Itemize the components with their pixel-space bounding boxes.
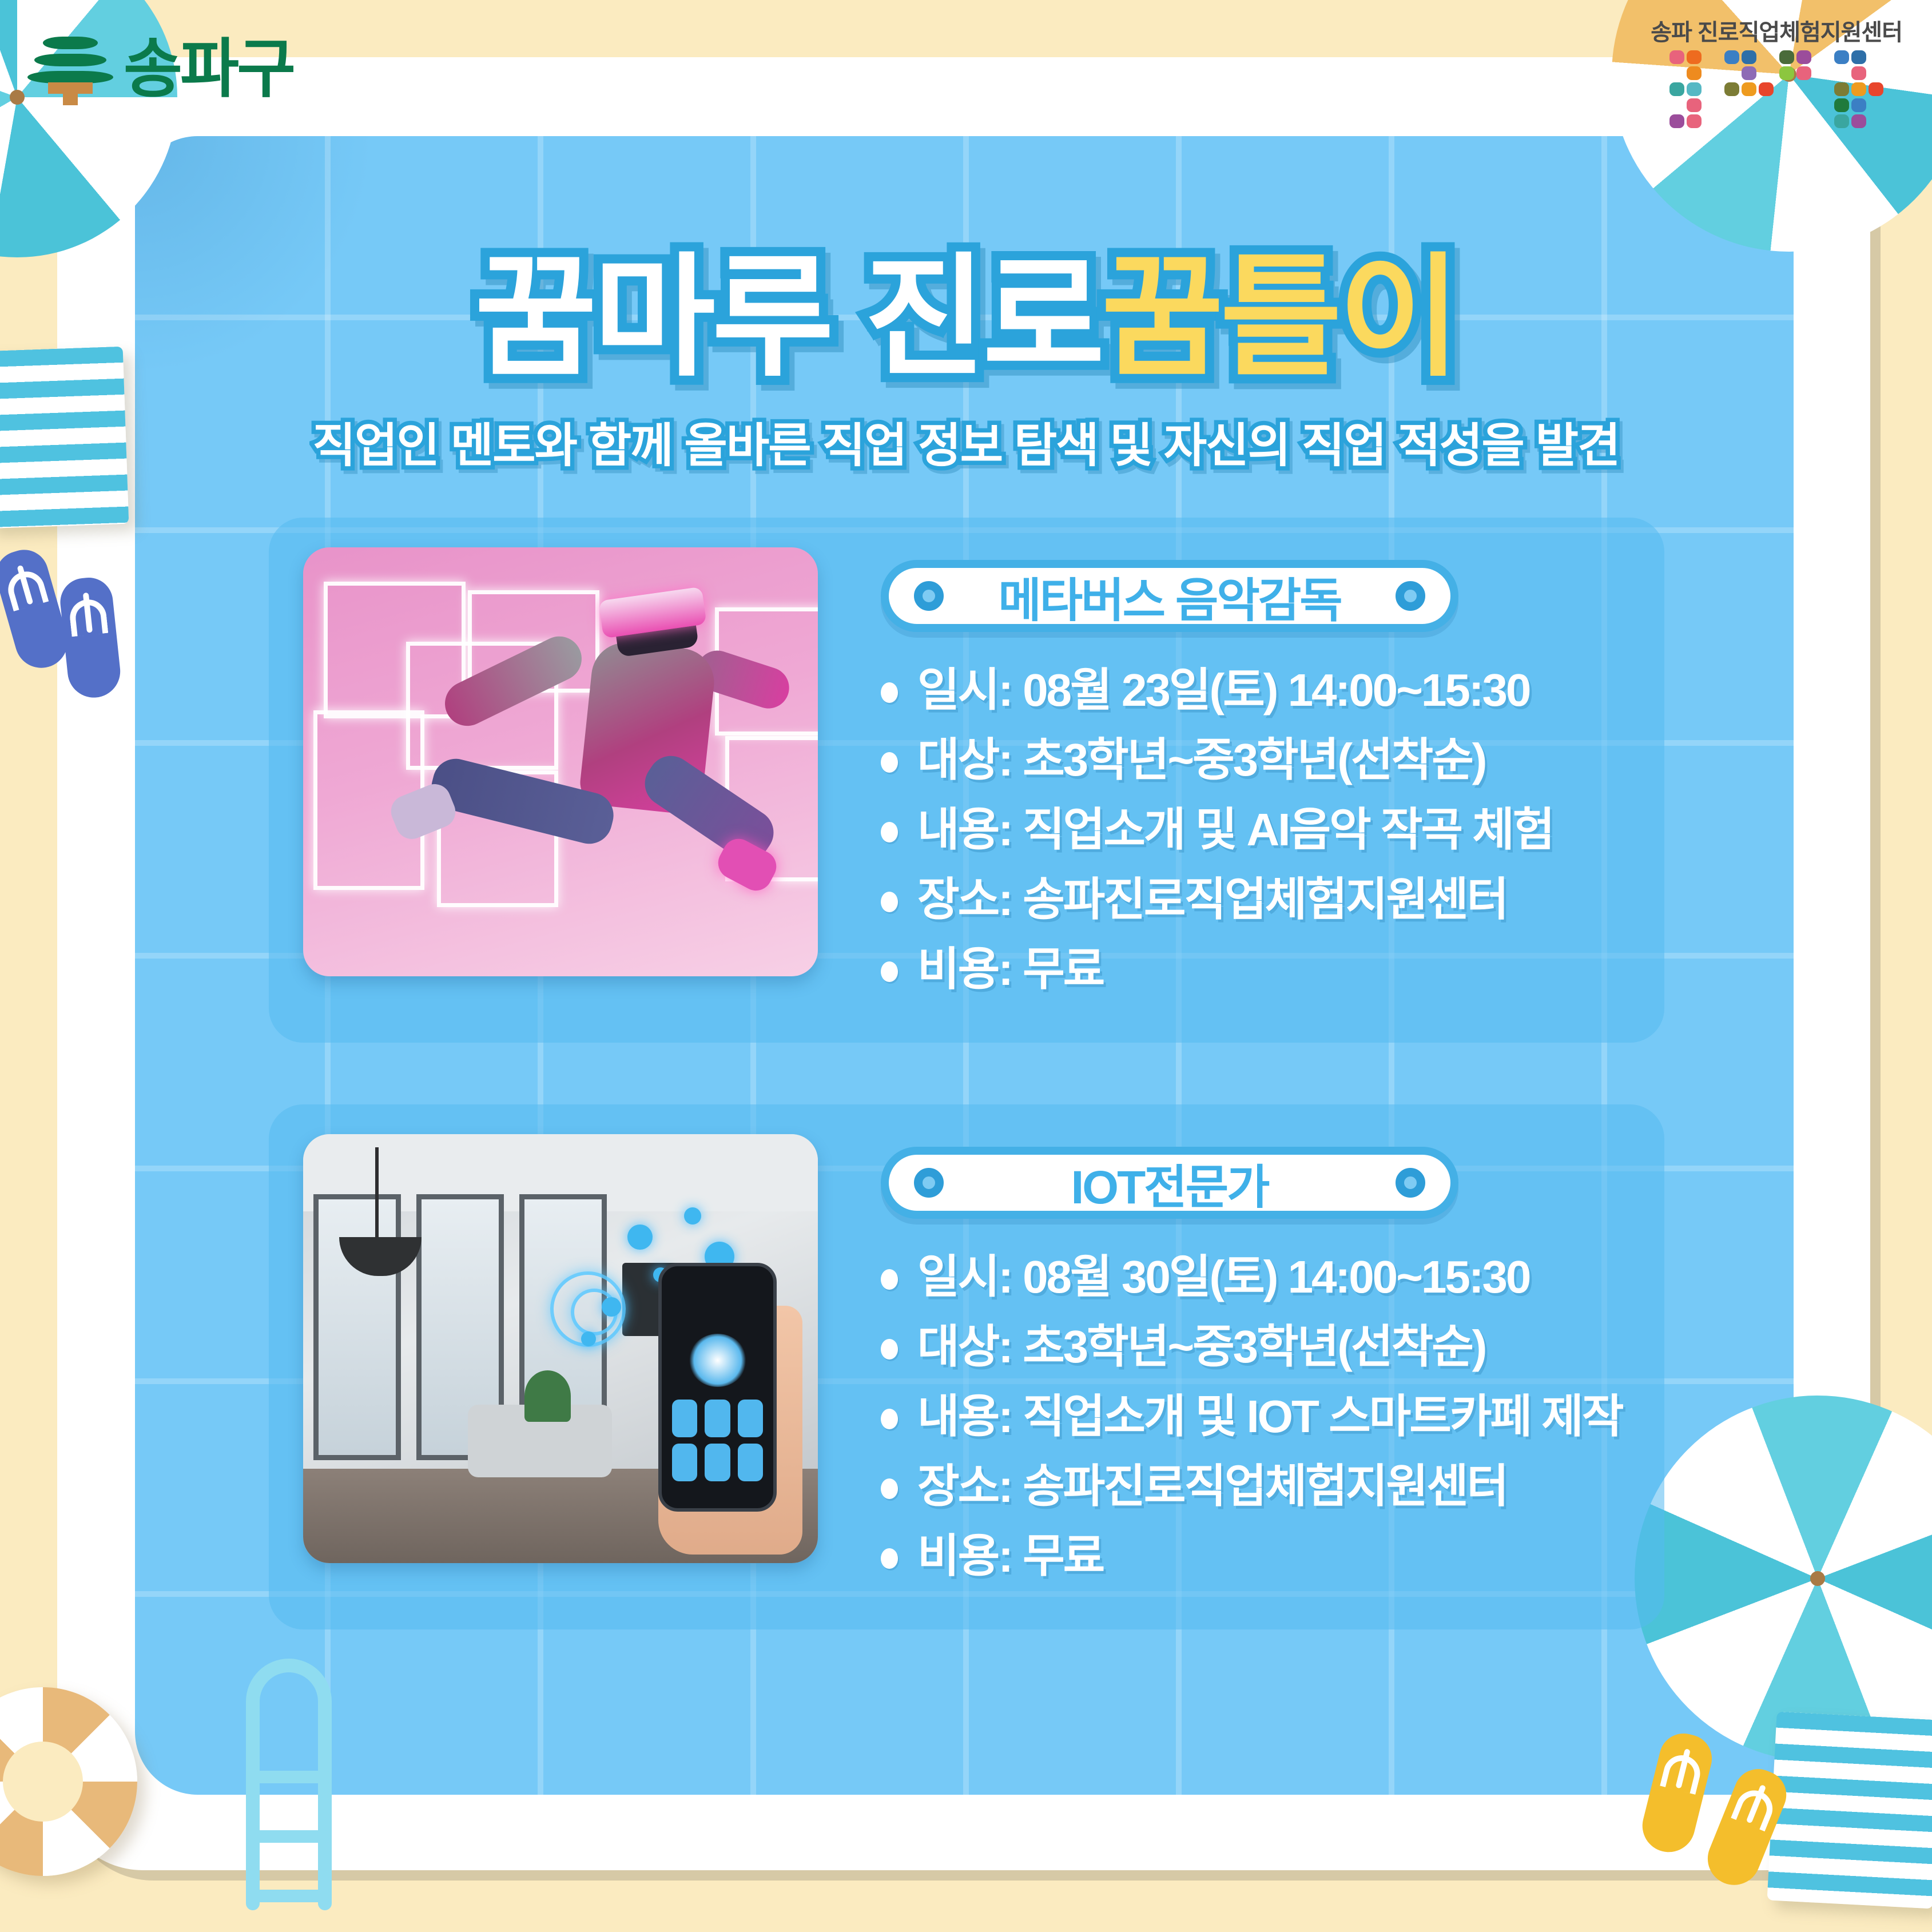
program-header-pill: 메타버스 음악감독 — [881, 560, 1458, 632]
district-logo: 송파구 — [27, 17, 293, 110]
program-detail-list: 일시: 08월 30일(토) 14:00~15:30 대상: 초3학년~중3학년… — [881, 1251, 1630, 1583]
list-item: 일시: 08월 23일(토) 14:00~15:30 — [881, 664, 1630, 717]
bullet-dot-icon — [881, 1269, 898, 1290]
detail-date: 일시: 08월 23일(토) 14:00~15:30 — [917, 664, 1530, 717]
program-detail-list: 일시: 08월 23일(토) 14:00~15:30 대상: 초3학년~중3학년… — [881, 664, 1630, 996]
list-item: 대상: 초3학년~중3학년(선착순) — [881, 1321, 1630, 1373]
center-logo-caption: 송파 진로직업체험지원센터 — [1651, 14, 1902, 47]
vr-dancer-photo — [303, 547, 818, 976]
list-item: 일시: 08월 30일(토) 14:00~15:30 — [881, 1251, 1630, 1303]
bullet-dot-icon — [881, 1548, 898, 1569]
list-item: 내용: 직업소개 및 IOT 스마트카페 제작 — [881, 1390, 1630, 1443]
list-item: 비용: 무료 — [881, 943, 1630, 996]
detail-audience: 대상: 초3학년~중3학년(선착순) — [917, 1321, 1485, 1373]
detail-date: 일시: 08월 30일(토) 14:00~15:30 — [917, 1251, 1530, 1303]
bullet-dot-icon — [881, 1409, 898, 1429]
detail-location: 장소: 송파진로직업체험지원센터 — [917, 1460, 1507, 1513]
pill-dot-left-icon — [914, 581, 944, 611]
bullet-dot-icon — [881, 752, 898, 773]
detail-location: 장소: 송파진로직업체험지원센터 — [917, 873, 1507, 926]
pill-dot-right-icon — [1396, 1168, 1425, 1198]
list-item: 장소: 송파진로직업체험지원센터 — [881, 1460, 1630, 1513]
page-subtitle: 직업인 멘토와 함께 올바른 직업 정보 탐색 및 자신의 직업 적성을 발견 — [0, 407, 1932, 475]
center-logo-blocks-icon — [1651, 50, 1902, 128]
detail-content: 내용: 직업소개 및 IOT 스마트카페 제작 — [917, 1390, 1623, 1443]
list-item: 내용: 직업소개 및 AI음악 작곡 체험 — [881, 804, 1630, 856]
program-card-list: 메타버스 음악감독 일시: 08월 23일(토) 14:00~15:30 대상:… — [269, 518, 1664, 1691]
bullet-dot-icon — [881, 682, 898, 703]
title-yellow-part: 꿈틀이 — [1102, 244, 1457, 392]
bullet-dot-icon — [881, 822, 898, 842]
list-item: 장소: 송파진로직업체험지원센터 — [881, 873, 1630, 926]
center-logo: 송파 진로직업체험지원센터 — [1651, 14, 1902, 128]
pill-dot-right-icon — [1396, 581, 1425, 611]
bullet-dot-icon — [881, 1339, 898, 1359]
detail-audience: 대상: 초3학년~중3학년(선착순) — [917, 734, 1485, 786]
smart-home-iot-photo — [303, 1134, 818, 1563]
program-title: 메타버스 음악감독 — [944, 562, 1396, 630]
bullet-dot-icon — [881, 961, 898, 982]
program-title: IOT전문가 — [944, 1149, 1396, 1217]
bullet-dot-icon — [881, 1478, 898, 1499]
title-white-part: 꿈마루 진로 — [475, 244, 1102, 392]
list-item: 대상: 초3학년~중3학년(선착순) — [881, 734, 1630, 786]
page-title: 꿈마루 진로꿈틀이 — [0, 252, 1932, 384]
program-card: 메타버스 음악감독 일시: 08월 23일(토) 14:00~15:30 대상:… — [269, 518, 1664, 1043]
detail-cost: 비용: 무료 — [917, 943, 1103, 996]
district-logo-label: 송파구 — [124, 17, 293, 110]
program-header-pill: IOT전문가 — [881, 1147, 1458, 1219]
poster-title-block: 꿈마루 진로꿈틀이 직업인 멘토와 함께 올바른 직업 정보 탐색 및 자신의 … — [0, 252, 1932, 475]
program-card: IOT전문가 일시: 08월 30일(토) 14:00~15:30 대상: 초3… — [269, 1104, 1664, 1629]
detail-cost: 비용: 무료 — [917, 1530, 1103, 1583]
list-item: 비용: 무료 — [881, 1530, 1630, 1583]
pine-tree-icon — [27, 21, 113, 106]
detail-content: 내용: 직업소개 및 AI음악 작곡 체험 — [917, 804, 1553, 856]
bullet-dot-icon — [881, 892, 898, 912]
pill-dot-left-icon — [914, 1168, 944, 1198]
